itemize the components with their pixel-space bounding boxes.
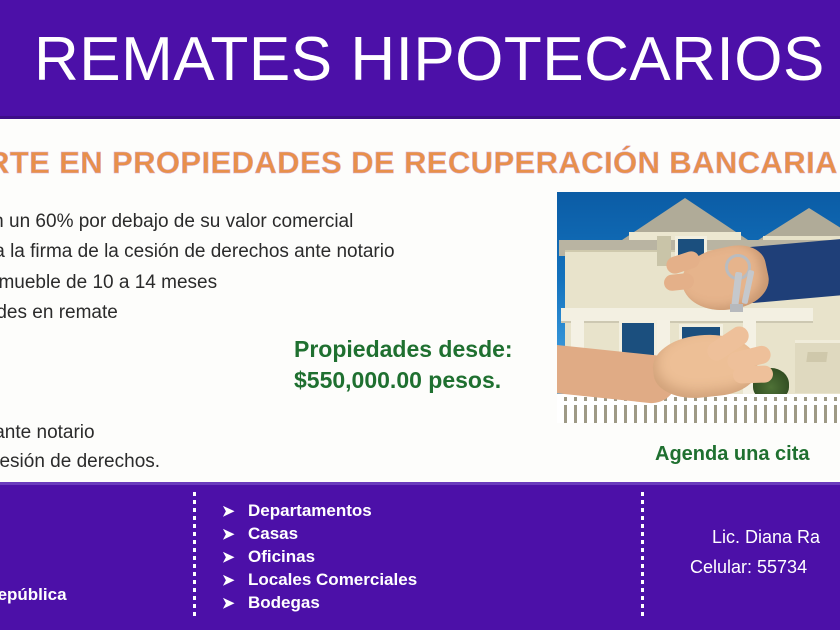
price-callout-amount: $550,000.00 pesos. — [294, 365, 513, 396]
benefit-line: to al banco a la firma de la cesión de d… — [0, 237, 616, 267]
garage-door — [795, 340, 840, 393]
list-item-label: Oficinas — [248, 547, 315, 566]
contact-name: Lic. Diana Ra — [712, 522, 840, 552]
list-item: ➤Bodegas — [222, 592, 622, 615]
footer-divider-right — [641, 492, 644, 620]
photo-image — [557, 192, 840, 423]
house-keys-photo — [557, 192, 840, 423]
contact-column: Lic. Diana Ra Celular: 55734 — [712, 522, 840, 582]
subtitle-banner: INVIERTE EN PROPIEDADES DE RECUPERACIÓN … — [0, 145, 840, 181]
location-item: México — [0, 500, 202, 521]
footer-banner: México México te de la República ➤Depart… — [0, 482, 840, 630]
arrow-bullet-icon: ➤ — [222, 524, 248, 546]
locations-column: México México te de la República — [0, 500, 202, 605]
arrow-bullet-icon: ➤ — [222, 593, 248, 615]
schedule-appointment-cta[interactable]: Agenda una cita — [655, 443, 809, 466]
footer-top-edge — [0, 482, 840, 485]
contact-phone[interactable]: Celular: 55734 — [690, 552, 840, 582]
list-item-label: Locales Comerciales — [248, 570, 417, 589]
poster-canvas: REMATES HIPOTECARIOS INVIERTE EN PROPIED… — [0, 0, 840, 630]
page-title: REMATES HIPOTECARIOS — [34, 24, 825, 96]
arrow-bullet-icon: ➤ — [222, 547, 248, 569]
location-item: México — [0, 521, 202, 542]
receiving-finger — [733, 365, 774, 383]
list-item-label: Casas — [248, 524, 298, 543]
list-item: ➤Departamentos — [222, 500, 622, 523]
garage-trim — [806, 352, 827, 362]
picket-fence — [557, 394, 840, 423]
price-callout: Propiedades desde: $550,000.00 pesos. — [294, 334, 513, 396]
price-callout-label: Propiedades desde: — [294, 334, 513, 365]
list-item-label: Bodegas — [248, 593, 320, 612]
header-banner: REMATES HIPOTECARIOS — [0, 0, 840, 119]
process-line: firma de la cesión de derechos. — [0, 447, 616, 476]
list-item: ➤Oficinas — [222, 546, 622, 569]
list-item-label: Departamentos — [248, 501, 372, 520]
property-types-list: ➤Departamentos ➤Casas ➤Oficinas ➤Locales… — [222, 500, 622, 615]
benefit-line: aterial del inmueble de 10 a 14 meses — [0, 268, 616, 298]
list-item: ➤Locales Comerciales — [222, 569, 622, 592]
process-line: to al banco ante notario — [0, 418, 616, 447]
key-bit — [730, 304, 743, 312]
header-bottom-edge — [0, 116, 840, 119]
benefit-line: es hasta con un 60% por debajo de su val… — [0, 207, 616, 237]
list-item: ➤Casas — [222, 523, 622, 546]
benefit-line: 00 propiedades en remate — [0, 298, 616, 328]
porch-roof — [561, 308, 813, 321]
arrow-bullet-icon: ➤ — [222, 501, 248, 523]
location-item: te de la República — [0, 584, 202, 605]
process-list: to al banco ante notario firma de la ces… — [0, 418, 616, 476]
arrow-bullet-icon: ➤ — [222, 570, 248, 592]
fence-rail — [557, 401, 840, 405]
